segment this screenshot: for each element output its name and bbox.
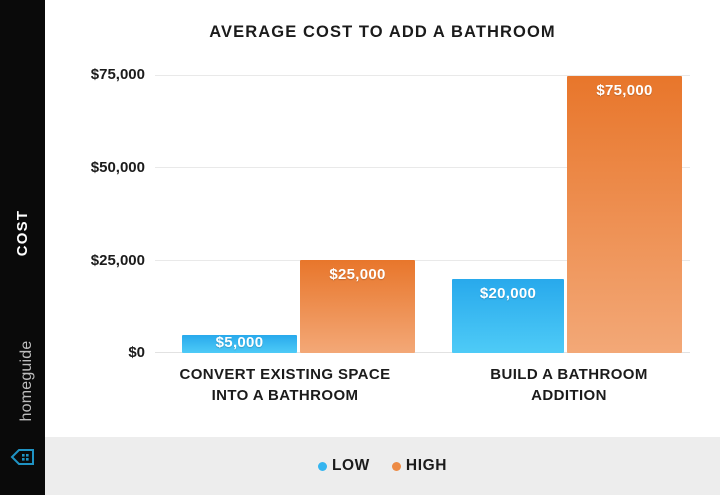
house-grid-icon <box>10 445 36 469</box>
brand-name: homeguide <box>16 326 38 436</box>
legend-label-high: HIGH <box>406 457 447 475</box>
bar-value-low-convert: $5,000 <box>182 334 297 351</box>
chart-page: COST homeguide AVERAGE COST TO ADD A BAT… <box>0 0 720 495</box>
bar-high-build-addition[interactable]: $75,000 <box>567 76 682 353</box>
category-label-convert-existing-space: CONVERT EXISTING SPACE INTO A BATHROOM <box>155 364 415 406</box>
category-label-line-1: CONVERT EXISTING SPACE <box>155 364 415 385</box>
bar-high-convert-existing-space[interactable]: $25,000 <box>300 260 415 353</box>
category-label-line-2: ADDITION <box>445 385 693 406</box>
category-label-line-1: BUILD A BATHROOM <box>445 364 693 385</box>
legend-item-low[interactable]: LOW <box>318 457 370 475</box>
plot-area: $5,000 $25,000 $20,000 $75,000 <box>155 75 690 353</box>
legend-item-high[interactable]: HIGH <box>392 457 447 475</box>
bar-low-build-addition[interactable]: $20,000 <box>452 279 564 353</box>
chart-title: AVERAGE COST TO ADD A BATHROOM <box>45 23 720 42</box>
bar-value-low-build: $20,000 <box>452 285 564 302</box>
bar-value-high-build: $75,000 <box>567 82 682 99</box>
y-axis-title: COST <box>12 178 34 288</box>
category-label-build-addition: BUILD A BATHROOM ADDITION <box>445 364 693 406</box>
y-tick-label-25000: $25,000 <box>0 252 145 269</box>
y-tick-label-50000: $50,000 <box>0 159 145 176</box>
y-tick-label-75000: $75,000 <box>0 66 145 83</box>
chart-legend: LOW HIGH <box>45 437 720 495</box>
category-label-line-2: INTO A BATHROOM <box>155 385 415 406</box>
legend-dot-low <box>318 462 327 471</box>
legend-label-low: LOW <box>332 457 370 475</box>
chart-area: AVERAGE COST TO ADD A BATHROOM $75,000 $… <box>45 0 720 437</box>
bar-value-high-convert: $25,000 <box>300 266 415 283</box>
legend-dot-high <box>392 462 401 471</box>
y-tick-label-0: $0 <box>0 344 145 361</box>
bar-low-convert-existing-space[interactable]: $5,000 <box>182 335 297 354</box>
